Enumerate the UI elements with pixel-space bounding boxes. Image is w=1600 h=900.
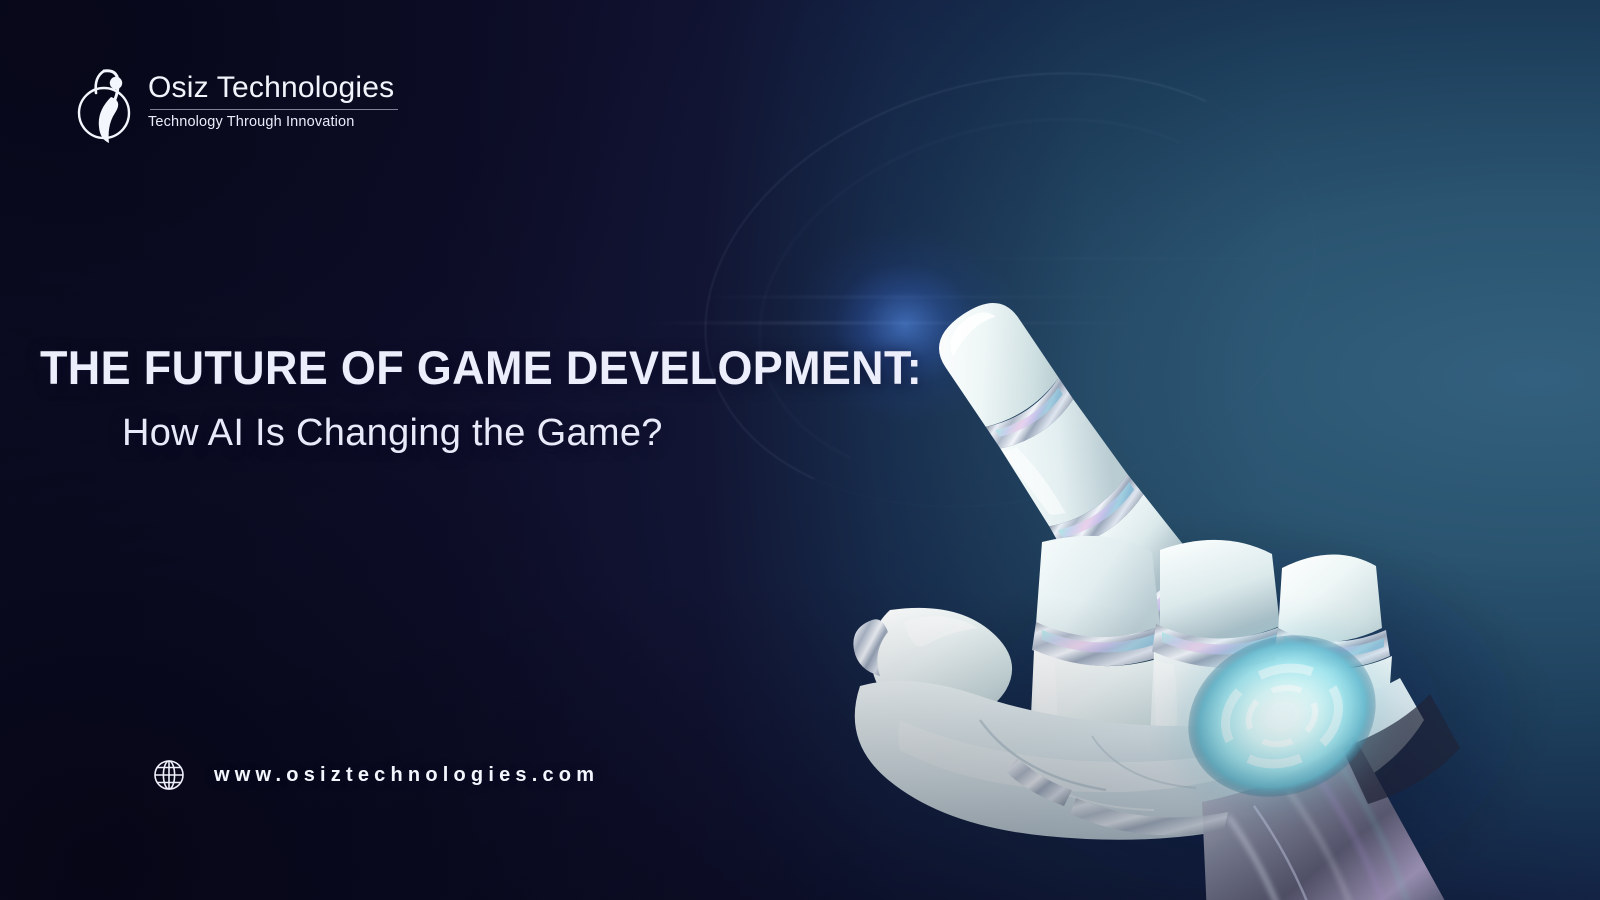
brand-tagline: Technology Through Innovation — [148, 114, 398, 130]
globe-icon — [150, 756, 188, 794]
headline-block: THE FUTURE OF GAME DEVELOPMENT: How AI I… — [40, 344, 880, 455]
page-title: THE FUTURE OF GAME DEVELOPMENT: — [40, 344, 842, 391]
banner: Osiz Technologies Technology Through Inn… — [0, 0, 1600, 900]
website-url[interactable]: www.osiztechnologies.com — [214, 764, 599, 787]
brand-logo-text: Osiz Technologies Technology Through Inn… — [148, 72, 398, 131]
page-subtitle: How AI Is Changing the Game? — [122, 413, 880, 455]
brand-logo[interactable]: Osiz Technologies Technology Through Inn… — [74, 57, 398, 145]
robotic-hand-illustration — [830, 250, 1600, 900]
osiz-emblem-icon — [74, 57, 136, 145]
brand-divider — [150, 109, 398, 110]
brand-name: Osiz Technologies — [148, 72, 398, 104]
footer-website[interactable]: www.osiztechnologies.com — [150, 756, 599, 794]
